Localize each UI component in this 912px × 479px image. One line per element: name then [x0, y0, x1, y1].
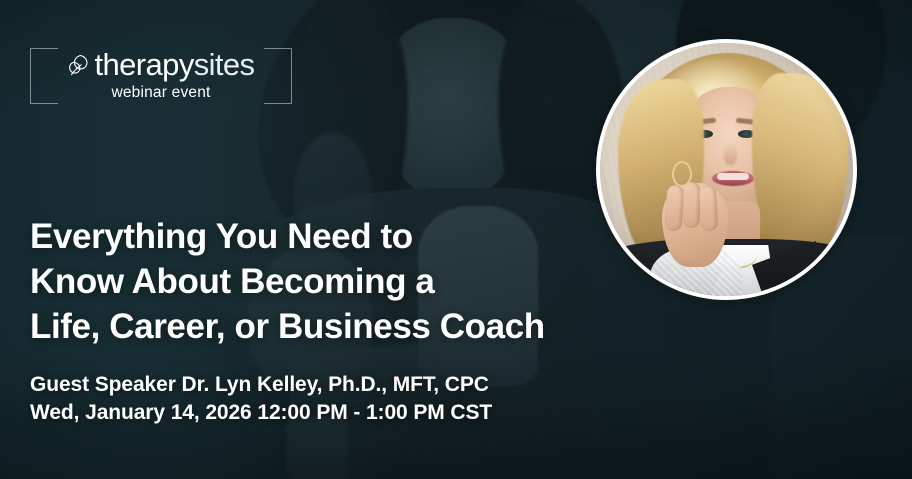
datetime-line: Wed, January 14, 2026 12:00 PM - 1:00 PM…	[30, 399, 650, 427]
event-details: Guest Speaker Dr. Lyn Kelley, Ph.D., MFT…	[30, 371, 650, 427]
headline-line-2: Know About Becoming a	[30, 259, 670, 304]
headline-line-1: Everything You Need to	[30, 214, 670, 259]
brand-logo: therapysites webinar event	[30, 42, 292, 112]
page-title: Everything You Need to Know About Becomi…	[30, 214, 670, 349]
leaf-icon	[68, 53, 90, 77]
logo-text-sites: sites	[194, 47, 255, 82]
webinar-promo-banner: therapysites webinar event Everythin	[0, 0, 912, 479]
logo-sublabel: webinar event	[30, 84, 292, 103]
headline-line-3: Life, Career, or Business Coach	[30, 304, 670, 349]
logo-wordmark: therapysites	[50, 42, 272, 86]
logo-text: therapysites	[95, 49, 255, 80]
speaker-line: Guest Speaker Dr. Lyn Kelley, Ph.D., MFT…	[30, 371, 650, 399]
logo-text-therapy: therapy	[95, 47, 194, 82]
